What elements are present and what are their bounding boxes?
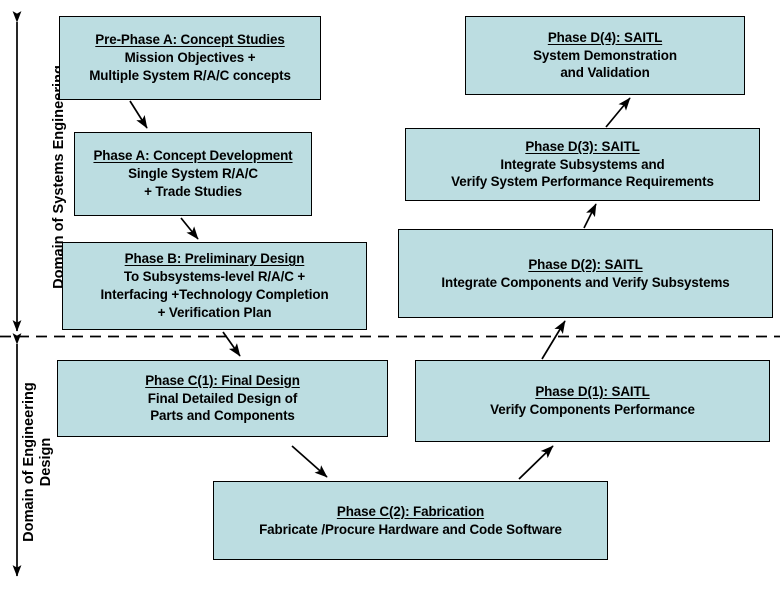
box-pre-phase-a-line-1: Mission Objectives +: [125, 49, 256, 67]
box-phase-d2-title: Phase D(2): SAITL: [528, 256, 642, 274]
box-pre-phase-a[interactable]: Pre-Phase A: Concept Studies Mission Obj…: [59, 16, 321, 100]
box-pre-phase-a-title: Pre-Phase A: Concept Studies: [95, 31, 284, 49]
box-phase-b-line-2: Interfacing +Technology Completion: [100, 286, 328, 304]
box-phase-c1-title: Phase C(1): Final Design: [145, 372, 300, 390]
domain-label-engineering-design-line1: Domain of Engineering: [21, 337, 38, 587]
box-phase-d4-title: Phase D(4): SAITL: [548, 29, 662, 47]
arrow-phase-d2-to-phase-d3: [584, 204, 596, 228]
arrow-phase-d3-to-phase-d4: [606, 98, 630, 127]
box-phase-d4-line-1: System Demonstration: [533, 47, 677, 65]
arrow-phase-b-to-phase-c1: [223, 332, 240, 356]
arrow-phase-a-to-phase-b: [181, 218, 198, 239]
diagram-canvas: Domain of Systems Engineering Domain of …: [0, 0, 780, 595]
arrow-phase-c1-to-phase-c2: [292, 446, 327, 477]
box-phase-d3-line-2: Verify System Performance Requirements: [451, 173, 714, 191]
box-phase-d1-title: Phase D(1): SAITL: [535, 383, 649, 401]
box-phase-d1-line-1: Verify Components Performance: [490, 401, 695, 419]
box-phase-d4[interactable]: Phase D(4): SAITL System Demonstration a…: [465, 16, 745, 95]
box-phase-c1[interactable]: Phase C(1): Final Design Final Detailed …: [57, 360, 388, 437]
box-phase-c2-title: Phase C(2): Fabrication: [337, 503, 484, 521]
box-phase-c2-line-1: Fabricate /Procure Hardware and Code Sof…: [259, 521, 562, 539]
box-phase-a-line-2: + Trade Studies: [144, 183, 242, 201]
box-phase-d3[interactable]: Phase D(3): SAITL Integrate Subsystems a…: [405, 128, 760, 201]
box-phase-c1-line-1: Final Detailed Design of: [148, 390, 297, 408]
box-phase-d1[interactable]: Phase D(1): SAITL Verify Components Perf…: [415, 360, 770, 442]
arrow-pre-phase-a-to-phase-a: [130, 101, 147, 128]
box-phase-a-line-1: Single System R/A/C: [128, 165, 258, 183]
box-phase-a[interactable]: Phase A: Concept Development Single Syst…: [74, 132, 312, 216]
box-phase-b-line-1: To Subsystems-level R/A/C +: [124, 268, 305, 286]
box-phase-d4-line-2: and Validation: [560, 64, 649, 82]
box-phase-d3-line-1: Integrate Subsystems and: [500, 156, 664, 174]
box-phase-c1-line-2: Parts and Components: [150, 407, 295, 425]
box-phase-a-title: Phase A: Concept Development: [93, 147, 292, 165]
box-phase-d2[interactable]: Phase D(2): SAITL Integrate Components a…: [398, 229, 773, 318]
domain-label-engineering-design: Domain of Engineering Design: [21, 337, 61, 587]
box-phase-d2-line-1: Integrate Components and Verify Subsyste…: [441, 274, 729, 292]
box-pre-phase-a-line-2: Multiple System R/A/C concepts: [89, 67, 291, 85]
box-phase-c2[interactable]: Phase C(2): Fabrication Fabricate /Procu…: [213, 481, 608, 560]
box-phase-b-line-3: + Verification Plan: [158, 304, 272, 322]
arrow-phase-d1-to-phase-d2: [542, 321, 565, 359]
box-phase-b[interactable]: Phase B: Preliminary Design To Subsystem…: [62, 242, 367, 330]
box-phase-d3-title: Phase D(3): SAITL: [525, 138, 639, 156]
domain-label-engineering-design-line2: Design: [38, 337, 55, 587]
arrow-phase-c2-to-phase-d1: [519, 446, 553, 479]
box-phase-b-title: Phase B: Preliminary Design: [125, 250, 305, 268]
